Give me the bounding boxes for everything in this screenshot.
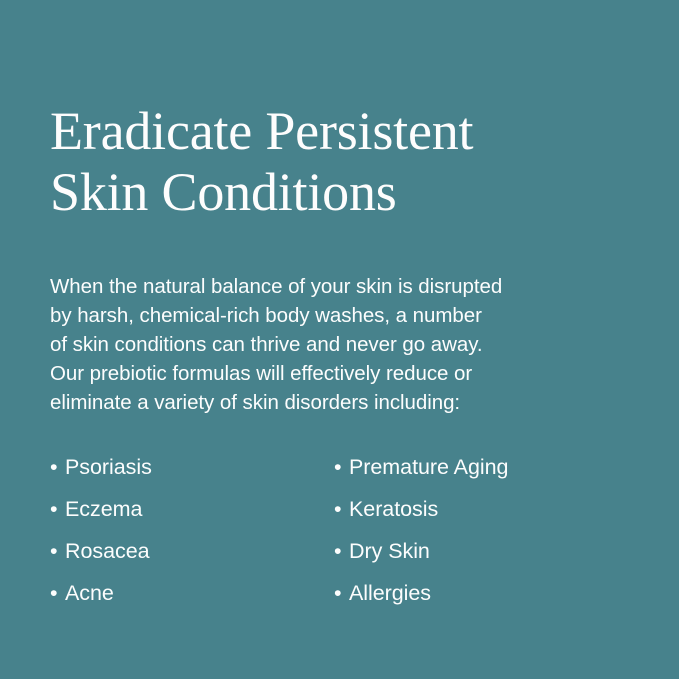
condition-label: Allergies <box>349 578 431 608</box>
conditions-column-right: • Premature Aging • Keratosis • Dry Skin… <box>334 452 634 620</box>
body-line-4: Our prebiotic formulas will effectively … <box>50 359 650 388</box>
promo-card: Eradicate Persistent Skin Conditions Whe… <box>0 0 679 679</box>
list-item: • Dry Skin <box>334 536 634 578</box>
body-line-2: by harsh, chemical-rich body washes, a n… <box>50 301 650 330</box>
body-line-3: of skin conditions can thrive and never … <box>50 330 650 359</box>
body-line-1: When the natural balance of your skin is… <box>50 272 650 301</box>
condition-label: Eczema <box>65 494 142 524</box>
condition-label: Keratosis <box>349 494 438 524</box>
list-item: • Acne <box>50 578 334 620</box>
page-title: Eradicate Persistent Skin Conditions <box>50 101 640 223</box>
bullet-icon: • <box>50 452 65 482</box>
bullet-icon: • <box>334 452 349 482</box>
page-title-line-2: Skin Conditions <box>50 162 640 223</box>
condition-label: Rosacea <box>65 536 150 566</box>
bullet-icon: • <box>334 536 349 566</box>
condition-label: Psoriasis <box>65 452 152 482</box>
page-title-line-1: Eradicate Persistent <box>50 101 640 162</box>
bullet-icon: • <box>334 494 349 524</box>
bullet-icon: • <box>50 536 65 566</box>
condition-label: Acne <box>65 578 114 608</box>
condition-label: Premature Aging <box>349 452 508 482</box>
body-line-5: eliminate a variety of skin disorders in… <box>50 388 650 417</box>
condition-label: Dry Skin <box>349 536 430 566</box>
bullet-icon: • <box>50 578 65 608</box>
bullet-icon: • <box>334 578 349 608</box>
list-item: • Allergies <box>334 578 634 620</box>
list-item: • Psoriasis <box>50 452 334 494</box>
conditions-column-left: • Psoriasis • Eczema • Rosacea • Acne <box>50 452 334 620</box>
list-item: • Premature Aging <box>334 452 634 494</box>
list-item: • Keratosis <box>334 494 634 536</box>
bullet-icon: • <box>50 494 65 524</box>
list-item: • Rosacea <box>50 536 334 578</box>
body-paragraph: When the natural balance of your skin is… <box>50 272 650 417</box>
conditions-list: • Psoriasis • Eczema • Rosacea • Acne • … <box>50 452 650 620</box>
list-item: • Eczema <box>50 494 334 536</box>
